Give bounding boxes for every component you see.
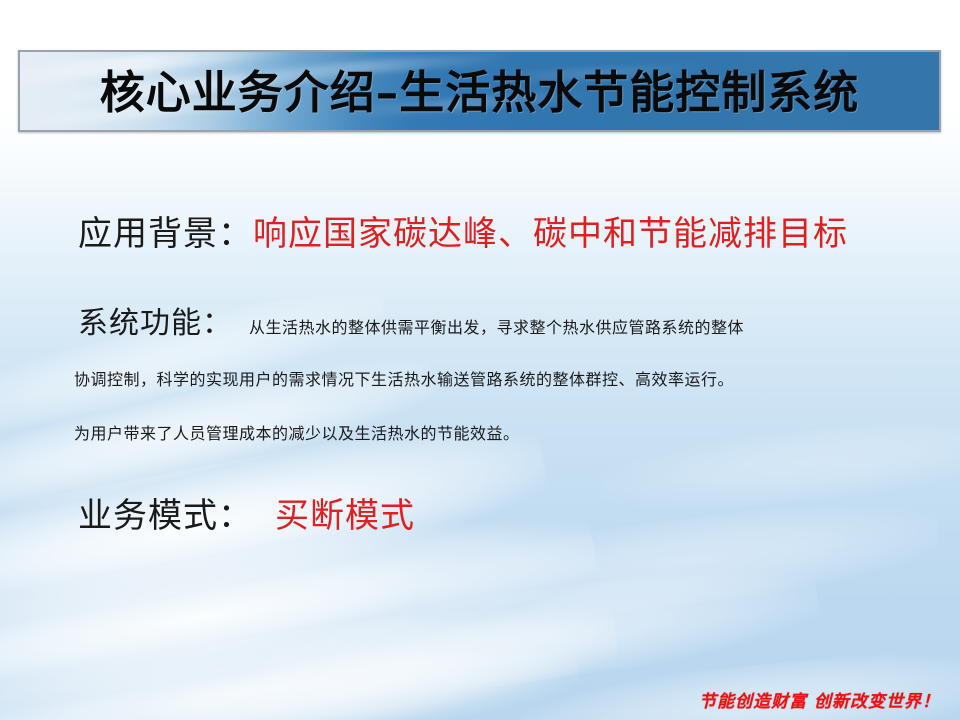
slide-canvas: 核心业务介绍–生活热水节能控制系统 应用背景：响应国家碳达峰、碳中和节能减排目标… bbox=[0, 0, 960, 720]
cloud-streak bbox=[147, 634, 582, 720]
application-background-value: 响应国家碳达峰、碳中和节能减排目标 bbox=[253, 214, 848, 254]
business-model-label: 业务模式： bbox=[78, 496, 253, 536]
footer-slogan: 节能创造财富 创新改变世界！ bbox=[699, 687, 940, 712]
business-model-value: 买断模式 bbox=[275, 496, 415, 536]
section-application-background: 应用背景：响应国家碳达峰、碳中和节能减排目标 bbox=[78, 206, 848, 255]
system-function-line-3: 为用户带来了人员管理成本的减少以及生活热水的节能效益。 bbox=[74, 424, 520, 443]
application-background-label: 应用背景： bbox=[78, 214, 253, 254]
section-system-function: 系统功能：从生活热水的整体供需平衡出发，寻求整个热水供应管路系统的整体 bbox=[78, 298, 744, 342]
system-function-line-2: 协调控制，科学的实现用户的需求情况下生活热水输送管路系统的整体群控、高效率运行。 bbox=[74, 370, 734, 389]
cloud-streak bbox=[417, 489, 943, 637]
system-function-label: 系统功能： bbox=[78, 306, 233, 341]
cloud-streak bbox=[0, 581, 624, 720]
section-business-model: 业务模式：买断模式 bbox=[78, 488, 415, 537]
cloud-streak bbox=[597, 408, 960, 522]
page-title: 核心业务介绍–生活热水节能控制系统 bbox=[20, 52, 939, 132]
system-function-paragraph-3: 为用户带来了人员管理成本的减少以及生活热水的节能效益。 bbox=[74, 420, 520, 444]
system-function-line-1: 从生活热水的整体供需平衡出发，寻求整个热水供应管路系统的整体 bbox=[249, 318, 744, 337]
title-banner: 核心业务介绍–生活热水节能控制系统 bbox=[18, 50, 941, 132]
system-function-paragraph-2: 协调控制，科学的实现用户的需求情况下生活热水输送管路系统的整体群控、高效率运行。 bbox=[74, 366, 734, 390]
